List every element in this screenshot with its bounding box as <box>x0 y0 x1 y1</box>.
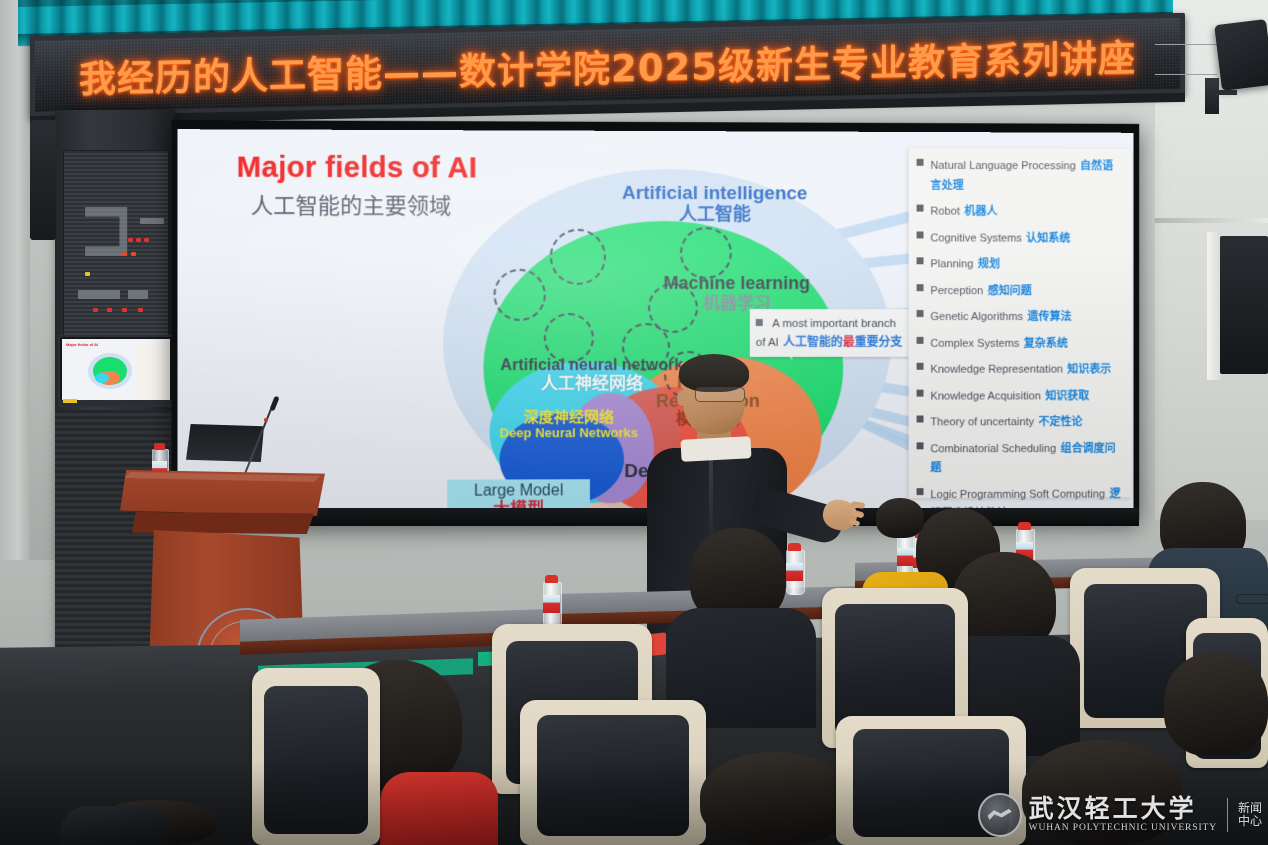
bullet-square-icon <box>917 257 924 264</box>
audience-head <box>1164 652 1268 756</box>
bullet-text-cn: 认知系统 <box>1026 231 1070 244</box>
label-deep-neural-networks: 深度神经网络 Deep Neural Networks <box>494 409 644 441</box>
bullet-item: Robot 机器人 <box>909 201 1132 221</box>
bullet-text-en: Genetic Algorithms <box>930 311 1023 323</box>
bullet-text-en: Planning <box>930 258 973 270</box>
callout-text-cn-highlight: 最 <box>843 334 855 348</box>
watermark-unit: 新闻 中心 <box>1238 802 1262 827</box>
bottle-cap <box>154 443 165 450</box>
rack-brand-logo: ⊐ <box>78 172 126 282</box>
audience-head <box>700 752 850 845</box>
callout-box: A most important branch of AI 人工智能的最重要分支 <box>750 309 909 357</box>
slide-title-cn: 人工智能的主要领域 <box>251 188 451 221</box>
auditorium-seat <box>520 700 706 845</box>
label-dnn-en: Deep Neural Networks <box>500 425 638 440</box>
microphone-indicator <box>264 418 268 422</box>
rack-status-led <box>131 252 136 256</box>
bullet-square-icon <box>917 231 924 238</box>
ceiling-wire <box>1155 74 1217 75</box>
watermark-name-en: WUHAN POLYTECHNIC UNIVERSITY <box>1029 824 1217 834</box>
slide-bullet-panel: Natural Language Processing 自然语言处理 Robot… <box>909 148 1132 498</box>
rack-status-led <box>138 308 143 312</box>
bullet-item: Theory of uncertainty 不定性论 <box>909 411 1132 431</box>
wall-display <box>1220 236 1268 374</box>
bullet-square-icon <box>917 442 924 449</box>
confidence-monitor-image: Major fields of AI <box>62 339 170 403</box>
bottle-label <box>543 595 560 613</box>
bullet-text-en: Natural Language Processing <box>930 160 1075 172</box>
bottle-cap <box>788 543 801 551</box>
watermark-divider <box>1227 798 1228 832</box>
eyeglasses-icon <box>1236 594 1268 604</box>
bullet-item: Knowledge Acquisition 知识获取 <box>909 385 1132 405</box>
bullet-item: Planning 规划 <box>909 253 1132 273</box>
speaker-bracket <box>1205 78 1219 114</box>
bullet-text-en: Cognitive Systems <box>930 232 1021 244</box>
watermark-university-name: 武汉轻工大学 WUHAN POLYTECHNIC UNIVERSITY <box>1029 796 1217 834</box>
rack-status-led <box>128 238 133 242</box>
seat-pad <box>264 686 369 835</box>
bullet-square-icon <box>917 284 924 291</box>
label-lm-en: Large Model <box>474 482 563 499</box>
ceiling-wire <box>1155 44 1225 45</box>
wall-speaker-icon <box>1214 19 1268 91</box>
callout-bullet-icon <box>756 319 763 326</box>
audience-body <box>60 806 170 845</box>
bullet-item: Cognitive Systems 认知系统 <box>909 227 1132 247</box>
bullet-text-cn: 感知问题 <box>988 284 1032 297</box>
bullet-text-en: Logic Programming Soft Computing <box>930 488 1105 501</box>
dashed-node-circle <box>680 227 732 279</box>
label-dnn-cn: 深度神经网络 <box>494 409 644 426</box>
bullet-item: Genetic Algorithms 遗传算法 <box>909 306 1132 325</box>
eyeglasses-icon <box>695 387 745 402</box>
bullet-item: Natural Language Processing 自然语言处理 <box>909 155 1132 194</box>
label-machine-learning: Machine learning 机器学习 <box>632 273 841 314</box>
bullet-item: Knowledge Representation 知识表示 <box>909 359 1132 379</box>
speaker-mount-arm <box>1215 90 1237 95</box>
bullet-square-icon <box>917 337 924 344</box>
university-seal-icon <box>978 793 1022 837</box>
audience-water-bottle <box>543 575 560 625</box>
bullet-text-en: Complex Systems <box>930 337 1019 349</box>
bullet-square-icon <box>917 310 924 317</box>
rack-blank-plate <box>140 218 164 224</box>
seat-pad <box>537 715 690 837</box>
news-center-watermark: 武汉轻工大学 WUHAN POLYTECHNIC UNIVERSITY 新闻 中… <box>978 791 1262 839</box>
bullet-square-icon <box>917 205 924 212</box>
auditorium-seat <box>252 668 380 845</box>
confidence-monitor: Major fields of AI <box>58 335 174 407</box>
rack-blank-plate <box>78 290 120 299</box>
rack-status-led <box>107 308 112 312</box>
bullet-square-icon <box>917 488 924 495</box>
callout-text-cn-a: 人工智能的 <box>783 334 843 348</box>
bottle-cap <box>545 575 558 583</box>
rack-status-led <box>136 238 141 242</box>
bullet-item: Combinatorial Scheduling 组合调度问题 <box>909 438 1132 477</box>
rack-status-led <box>85 272 90 276</box>
rack-status-led <box>93 308 98 312</box>
bullet-text-cn: 规划 <box>978 257 1000 270</box>
bullet-square-icon <box>917 363 924 370</box>
watermark-unit-line2: 中心 <box>1238 815 1262 828</box>
bullet-item: Complex Systems 复杂系统 <box>909 333 1132 352</box>
lecture-hall-photo: 我经历的人工智能——数计学院2025级新生专业教育系列讲座 ⊐ Major fi… <box>0 0 1268 845</box>
bullet-text-cn: 机器人 <box>964 205 997 218</box>
bullet-text-en: Perception <box>930 285 983 297</box>
stage-left-speaker-icon <box>30 120 56 240</box>
rack-blank-plate <box>128 290 148 299</box>
bottle-label <box>897 548 914 566</box>
dashed-node-circle <box>550 229 606 285</box>
label-ai-en: Artificial intelligence <box>622 183 807 204</box>
bullet-square-icon <box>917 389 924 396</box>
audience-water-bottle <box>786 543 803 593</box>
label-ai-cn: 人工智能 <box>679 204 751 225</box>
bullet-text-en: Knowledge Representation <box>930 364 1062 376</box>
presenter-ear <box>677 390 688 406</box>
wall-display-bezel-edge <box>1207 232 1221 380</box>
bullet-text-cn: 复杂系统 <box>1024 336 1068 349</box>
bullet-square-icon <box>917 416 924 423</box>
bullet-text-en: Combinatorial Scheduling <box>930 443 1056 455</box>
eyeglasses-icon <box>1176 500 1218 510</box>
wall-trim-rail <box>1155 218 1268 223</box>
rack-status-led <box>122 252 127 256</box>
label-artificial-intelligence: Artificial intelligence 人工智能 <box>600 183 829 226</box>
dashed-node-circle <box>544 313 594 363</box>
bullet-text-cn: 遗传算法 <box>1028 310 1072 323</box>
watermark-name-cn: 武汉轻工大学 <box>1029 796 1217 821</box>
dashed-node-circle <box>494 269 546 321</box>
bullet-text-cn: 知识获取 <box>1045 389 1089 402</box>
audience-body-red <box>380 772 498 845</box>
bullet-square-icon <box>917 159 924 166</box>
label-ml-en: Machine learning <box>663 273 810 293</box>
led-banner-text: 我经历的人工智能——数计学院2025级新生专业教育系列讲座 <box>79 27 1136 102</box>
left-wall-column <box>0 0 30 560</box>
bullet-text-cn: 不定性论 <box>1039 415 1083 428</box>
bullet-text-en: Robot <box>930 206 960 218</box>
bullet-text-en: Theory of uncertainty <box>930 416 1034 428</box>
bullet-text-cn: 知识表示 <box>1067 363 1111 376</box>
audience-head <box>876 498 924 538</box>
callout-text-cn-b: 重要分支 <box>855 334 903 348</box>
bottle-cap <box>1018 522 1031 530</box>
presenter-collar <box>680 436 751 462</box>
bullet-text-en: Knowledge Acquisition <box>930 390 1040 402</box>
rack-status-led <box>144 238 149 242</box>
monitor-indicator <box>63 399 77 403</box>
rack-status-led <box>122 308 127 312</box>
bottle-label <box>786 563 803 581</box>
bullet-item: Perception 感知问题 <box>909 280 1132 300</box>
